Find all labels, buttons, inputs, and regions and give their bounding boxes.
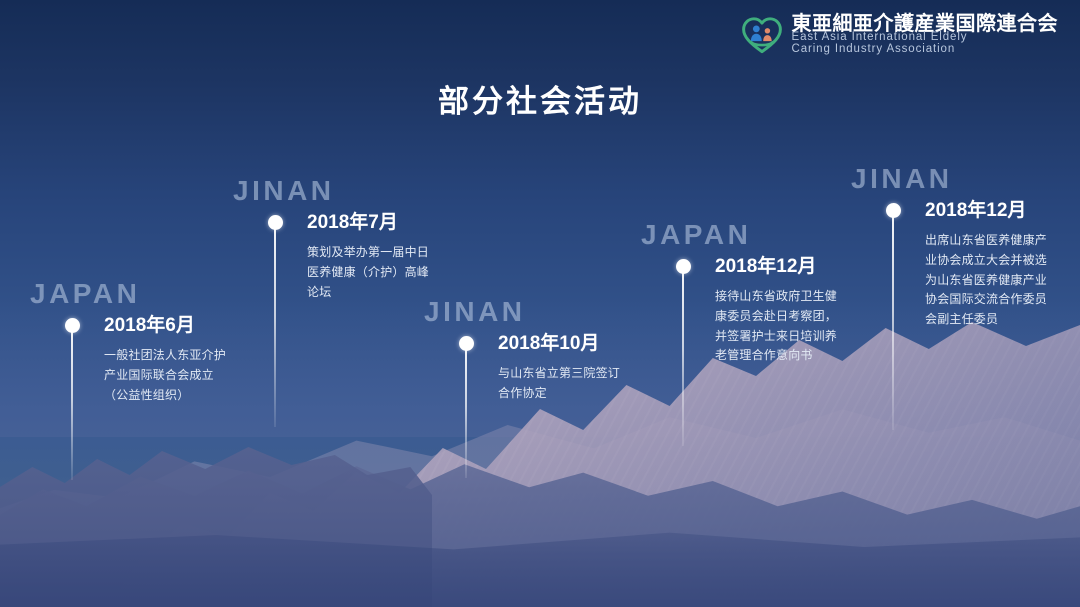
timeline-content-2: 2018年7月 策划及举办第一届中日医养健康（介护）高峰论坛: [307, 207, 435, 302]
timeline-date-1: 2018年6月: [104, 310, 232, 337]
timeline-stem-3: [465, 348, 467, 478]
timeline-stem-2: [274, 227, 276, 427]
timeline-location-4: JAPAN: [641, 219, 751, 251]
timeline-content-1: 2018年6月 一般社团法人东亚介护产业国际联合会成立（公益性组织）: [104, 310, 232, 405]
timeline: JAPAN 2018年6月 一般社团法人东亚介护产业国际联合会成立（公益性组织）…: [0, 0, 1080, 607]
timeline-location-5: JINAN: [851, 163, 953, 195]
timeline-description-1: 一般社团法人东亚介护产业国际联合会成立（公益性组织）: [104, 346, 232, 405]
timeline-stem-1: [71, 330, 73, 480]
timeline-location-3: JINAN: [424, 296, 526, 328]
timeline-content-3: 2018年10月 与山东省立第三院签订合作协定: [498, 328, 626, 404]
timeline-description-3: 与山东省立第三院签订合作协定: [498, 364, 626, 404]
timeline-stem-5: [892, 215, 894, 430]
timeline-location-2: JINAN: [233, 175, 335, 207]
timeline-stem-4: [682, 271, 684, 446]
timeline-content-5: 2018年12月 出席山东省医养健康产业协会成立大会并被选为山东省医养健康产业协…: [925, 195, 1053, 330]
timeline-description-4: 接待山东省政府卫生健康委员会赴日考察团，并签署护士来日培训养老管理合作意向书: [715, 287, 843, 366]
presentation-slide: 東亜細亜介護産業国際連合会 East Asia International El…: [0, 0, 1080, 607]
timeline-date-3: 2018年10月: [498, 328, 626, 355]
timeline-description-5: 出席山东省医养健康产业协会成立大会并被选为山东省医养健康产业协会国际交流合作委员…: [925, 231, 1053, 330]
timeline-date-2: 2018年7月: [307, 207, 435, 234]
timeline-description-2: 策划及举办第一届中日医养健康（介护）高峰论坛: [307, 243, 435, 302]
timeline-date-5: 2018年12月: [925, 195, 1053, 222]
timeline-content-4: 2018年12月 接待山东省政府卫生健康委员会赴日考察团，并签署护士来日培训养老…: [715, 251, 843, 366]
timeline-location-1: JAPAN: [30, 278, 140, 310]
timeline-date-4: 2018年12月: [715, 251, 843, 278]
